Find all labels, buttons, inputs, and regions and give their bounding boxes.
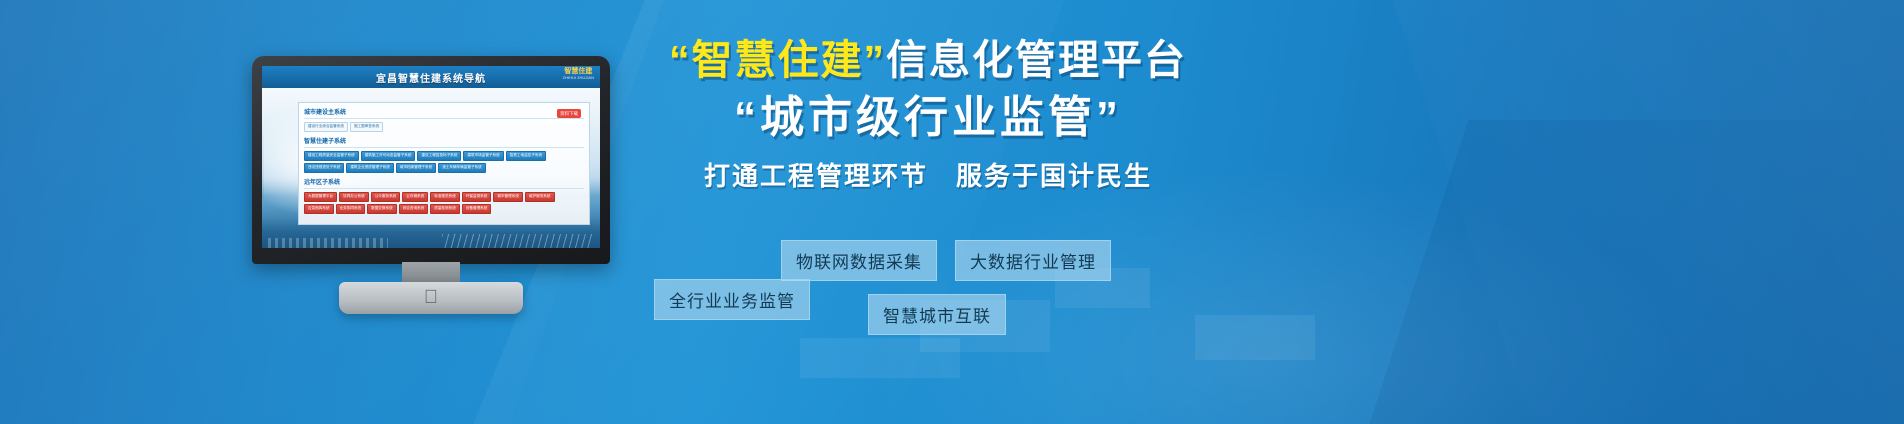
- nav-button[interactable]: 城市档案管理子系统: [396, 163, 436, 173]
- screen-header: 宜昌智慧住建系统导航 智慧住建 ZHIHUI ZHUJIAN: [262, 66, 600, 88]
- nav-button[interactable]: 设备管理系统: [462, 204, 492, 214]
- decor-rect-3: [800, 338, 960, 378]
- decor-rect-4: [1195, 315, 1315, 360]
- screen-header-title: 宜昌智慧住建系统导航: [376, 70, 486, 85]
- nav-button[interactable]: 环保监测系统: [462, 192, 492, 202]
- monitor-bezel: 宜昌智慧住建系统导航 智慧住建 ZHIHUI ZHUJIAN 资料下载 城市建设…: [252, 56, 610, 264]
- nav-button[interactable]: 数据交换系统: [367, 204, 397, 214]
- nav-button[interactable]: 建设工程质量安全监管子系统: [304, 151, 359, 161]
- nav-button[interactable]: 应急指挥系统: [304, 204, 334, 214]
- bridge-graphic: [442, 234, 592, 248]
- navigation-panel: 资料下载 城市建设主系统 建设行业综合监管系统 施工图审查系统 智慧住建子系统 …: [298, 102, 590, 225]
- headline-quote-open: “: [669, 37, 692, 83]
- screen-logo-primary: 智慧住建: [563, 68, 594, 75]
- headline-line-1: “智慧住建”信息化管理平台: [628, 38, 1228, 82]
- nav-button[interactable]: 云存储系统: [402, 192, 428, 202]
- headline-line-2: “城市级行业监管”: [628, 94, 1228, 142]
- nav-button[interactable]: 建筑施工许可动态监管子系统: [361, 151, 416, 161]
- nav-button[interactable]: 质量检测系统: [430, 204, 460, 214]
- nav-button[interactable]: 建筑市场监管子系统: [463, 151, 503, 161]
- section-buttons-district: 大数据管理平台 协同办公系统 公众服务系统 云存储系统 标准规范系统 环保监测系…: [304, 192, 584, 214]
- headline-accent-text: 智慧住建: [692, 37, 864, 83]
- nav-button[interactable]: 建筑企业资质管理子系统: [346, 163, 394, 173]
- monitor-stand-neck: [402, 262, 460, 284]
- screen-brand-logo: 智慧住建 ZHIHUI ZHUJIAN: [563, 68, 594, 80]
- promo-banner: 宜昌智慧住建系统导航 智慧住建 ZHIHUI ZHUJIAN 资料下载 城市建设…: [0, 0, 1904, 424]
- imac-mockup: 宜昌智慧住建系统导航 智慧住建 ZHIHUI ZHUJIAN 资料下载 城市建设…: [252, 56, 610, 308]
- nav-button[interactable]: 施工图审查系统: [350, 122, 383, 132]
- headline-quote-close: ”: [864, 37, 887, 83]
- section-title-sub: 智慧住建子系统: [304, 136, 584, 148]
- nav-button[interactable]: 城市管理系统: [493, 192, 523, 202]
- feature-tag-bigdata[interactable]: 大数据行业管理: [955, 240, 1111, 281]
- background-sweep-far-right: [1332, 120, 1904, 424]
- nav-button[interactable]: 大数据管理平台: [304, 192, 337, 202]
- background-sweep-right: [1341, 0, 1904, 424]
- feature-tag-iot[interactable]: 物联网数据采集: [781, 240, 937, 281]
- feature-tag-smartcity[interactable]: 智慧城市互联: [868, 294, 1006, 335]
- section-title-district: 远年区子系统: [304, 177, 584, 189]
- section-buttons-sub: 建设工程质量安全监管子系统 建筑施工许可动态监管子系统 建设工程招投标子系统 建…: [304, 151, 584, 173]
- monitor-screen: 宜昌智慧住建系统导航 智慧住建 ZHIHUI ZHUJIAN 资料下载 城市建设…: [262, 66, 600, 248]
- nav-button[interactable]: 综合查询系统: [399, 204, 429, 214]
- screen-body: 资料下载 城市建设主系统 建设行业综合监管系统 施工图审查系统 智慧住建子系统 …: [262, 88, 600, 248]
- nav-button[interactable]: 公众服务系统: [371, 192, 401, 202]
- nav-button[interactable]: 标准规范系统: [430, 192, 460, 202]
- headline-block: “智慧住建”信息化管理平台 “城市级行业监管” 打通工程管理环节 服务于国计民生: [628, 38, 1228, 193]
- nav-button[interactable]: 违法违规查处子系统: [304, 163, 344, 173]
- apple-logo-icon: : [424, 288, 438, 307]
- headline-line-3: 打通工程管理环节 服务于国计民生: [628, 156, 1228, 193]
- nav-button[interactable]: 协同办公系统: [339, 192, 369, 202]
- section-buttons-main: 建设行业综合监管系统 施工图审查系统: [304, 122, 584, 132]
- download-badge[interactable]: 资料下载: [557, 109, 581, 118]
- nav-button[interactable]: 渣土车辆车辆监管子系统: [438, 163, 486, 173]
- nav-button[interactable]: 智慧工地监控子系统: [506, 151, 546, 161]
- screen-logo-secondary: ZHIHUI ZHUJIAN: [563, 76, 594, 80]
- nav-button[interactable]: 维护服务系统: [525, 192, 555, 202]
- feature-tag-business[interactable]: 全行业业务监管: [654, 279, 810, 320]
- headline-rest-text: 信息化管理平台: [886, 37, 1187, 83]
- nav-button[interactable]: 业务协同系统: [336, 204, 366, 214]
- section-title-main: 城市建设主系统: [304, 107, 584, 119]
- nav-button[interactable]: 建设工程招投标子系统: [417, 151, 461, 161]
- nav-button[interactable]: 建设行业综合监管系统: [304, 122, 348, 132]
